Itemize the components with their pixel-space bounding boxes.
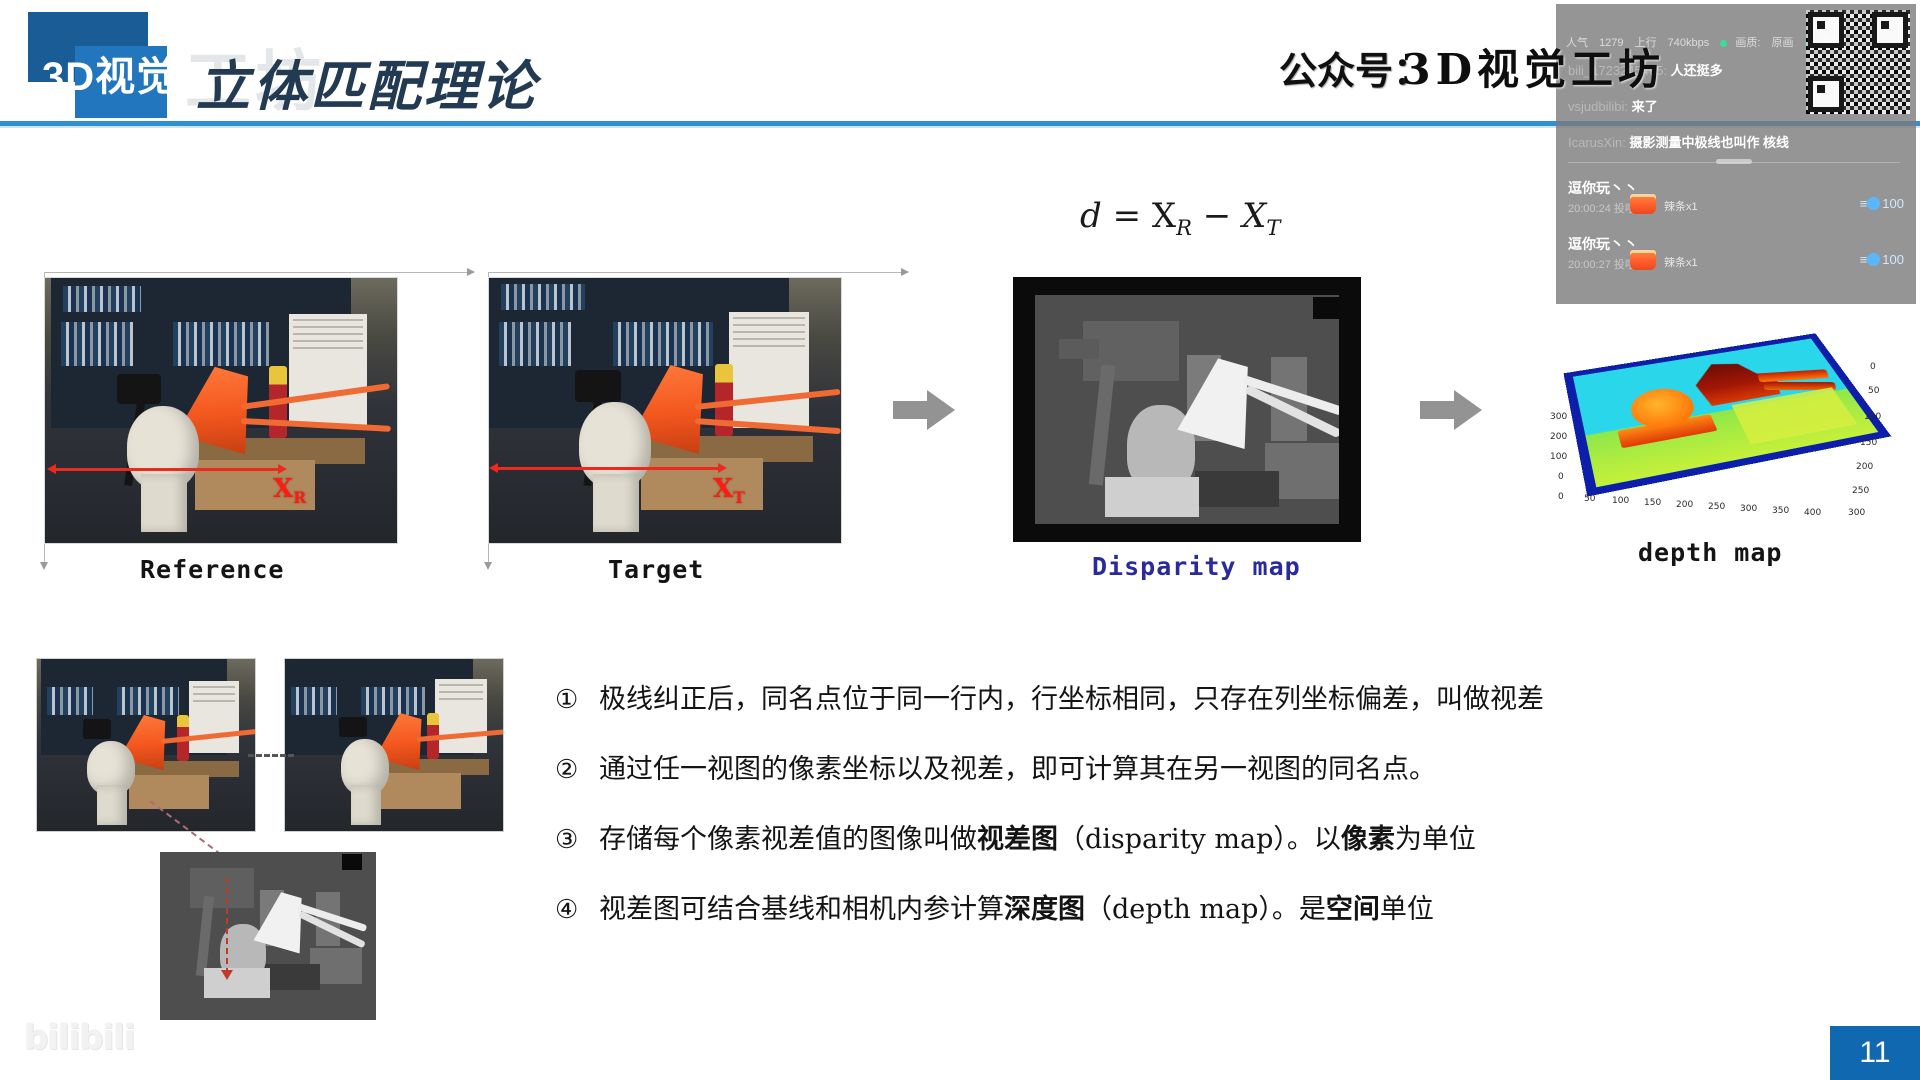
quality-value: 原画 [1771,37,1793,49]
gift-value: ≡100 [1860,196,1904,211]
x-tick-150: 150 [1644,498,1661,508]
bullet-item-4: ④视差图可结合基线和相机内参计算深度图（depth map）。是空间单位 [555,890,1905,930]
bullet-item-3: ③存储每个像素视差值的图像叫做视差图（disparity map）。以像素为单位 [555,820,1905,860]
depth-surface [1573,339,1878,488]
bullet-text: 极线纠正后，同名点位于同一行内，行坐标相同，只存在列坐标偏差，叫做视差 [599,684,1544,715]
bullet-text: 存储每个像素视差值的图像叫做视差图（disparity map）。以像素为单位 [599,824,1476,855]
x-tick-350: 350 [1772,506,1789,516]
chat-message: vsjudbilibi: 来了 [1568,96,1900,115]
formula-xr: X [1152,196,1176,236]
gift-username: 逗你玩丶丶 [1568,178,1638,198]
formula-minus: − [1203,196,1232,236]
y-tick-0: 0 [1558,472,1564,482]
disparity-map-canvas [1035,295,1339,524]
chat-message: IcarusXin: 摄影测量中极线也叫作 核线 [1568,132,1900,151]
x-tick-300: 300 [1740,504,1757,514]
chat-text: 人还挺多 [1671,63,1723,78]
disparity-caption: Disparity map [1092,552,1301,581]
y-tick-200: 200 [1550,432,1567,442]
bullet-term-disparity-map: 视差图 [977,824,1058,855]
chat-drag-handle[interactable] [1716,159,1752,164]
books-row-1 [61,322,133,366]
bullet-text-post: 单位 [1380,894,1434,925]
bullet-text-mid: （depth map）。是 [1085,894,1326,925]
bullet-term-space: 空间 [1326,894,1380,925]
gift-username: 逗你玩丶丶 [1568,234,1638,254]
point-label-xr: XR [273,474,306,507]
bullet-text-pre: 存储每个像素视差值的图像叫做 [599,824,977,855]
gift-time: 20:00:24 投喂 [1568,200,1636,216]
target-image: XT [488,277,842,544]
reference-image: XR [44,277,398,544]
x-tick-400: 400 [1804,508,1821,518]
z-tick-50: 50 [1868,386,1879,396]
y-tick-300: 300 [1550,412,1567,422]
gift-timestamp: 20:00:27 [1568,259,1611,271]
z-tick-250: 250 [1852,486,1869,496]
x-tick-100: 100 [1612,496,1629,506]
bullet-number: ④ [555,890,599,930]
chat-text: 摄影测量中极线也叫作 核线 [1629,135,1789,150]
bullet-text: 视差图可结合基线和相机内参计算深度图（depth map）。是空间单位 [599,894,1434,925]
y-tick-100: 100 [1550,452,1567,462]
point-label-xt-text: X [713,474,733,504]
books-row-2 [613,322,713,366]
z-tick-0: 0 [1870,362,1876,372]
gift-fries-icon [1630,194,1656,214]
bilibili-watermark: bilibili [24,1018,135,1058]
formula-d: d [1080,196,1102,236]
x-tick-250: 250 [1708,502,1725,512]
point-label-xt: XT [713,474,745,507]
point-label-xr-sub: R [293,488,306,507]
gift-value-number: 100 [1882,252,1904,267]
page-number-badge: 11 [1830,1026,1920,1080]
bullet-item-2: ②通过任一视图的像素坐标以及视差，即可计算其在另一视图的同名点。 [555,750,1905,790]
books-row-3 [63,286,141,312]
bullet-number: ③ [555,820,599,860]
gift-entry: 逗你玩丶丶 20:00:24 投喂 辣条x1 ≡100 [1568,178,1904,230]
guide-line-target-top [488,272,908,273]
thumbnail-right-view [284,658,504,832]
depth-map-plot: 300 200 100 0 0 50 100 150 200 250 300 3… [1520,300,1920,560]
bullet-term-pixel: 像素 [1341,824,1395,855]
bullet-text-post: 为单位 [1395,824,1476,855]
gift-timestamp: 20:00:24 [1568,203,1611,215]
target-caption: Target [608,555,704,584]
formula-xt-sub: T [1266,215,1280,240]
uplink-value: 740kbps [1668,37,1710,49]
bullet-text: 通过任一视图的像素坐标以及视差，即可计算其在另一视图的同名点。 [599,754,1436,785]
point-label-xr-text: X [273,474,293,504]
books-row-1 [499,322,571,366]
coin-icon [1867,253,1880,266]
bullet-list: ①极线纠正后，同名点位于同一行内，行坐标相同，只存在列坐标偏差，叫做视差 ②通过… [555,680,1905,960]
disparity-map-image [1013,277,1361,542]
x-tick-200: 200 [1676,500,1693,510]
formula-eq: = [1113,196,1142,236]
chat-username: vsjudbilibi [1568,99,1624,114]
poster [289,314,367,426]
epipolar-line [497,467,719,470]
gift-fries-icon [1630,250,1656,270]
bullet-number: ① [555,680,599,720]
x-tick-50: 50 [1584,494,1595,504]
x-tick-0: 0 [1558,492,1564,502]
gift-value: ≡100 [1860,252,1904,267]
coin-icon [1867,197,1880,210]
statue-neck [141,474,187,532]
epipolar-line [55,468,279,471]
z-tick-300: 300 [1848,508,1865,518]
qr-eye-tl-icon [1808,12,1844,48]
z-tick-100: 100 [1864,412,1881,422]
gift-entry: 逗你玩丶丶 20:00:27 投喂 辣条x1 ≡100 [1568,234,1904,286]
bullet-term-depth-map: 深度图 [1004,894,1085,925]
correspondence-connector-top [248,754,294,757]
point-label-xt-sub: T [733,488,745,507]
chat-text: 来了 [1632,99,1658,114]
gift-value-number: 100 [1882,196,1904,211]
z-tick-150: 150 [1860,438,1877,448]
books-row-3 [501,284,585,310]
guide-line-reference-top [44,272,474,273]
formula-xt: X [1242,196,1266,236]
poster [729,312,809,428]
flow-arrow-2-icon [1420,390,1482,430]
wechat-account-name: 3D视觉工坊 [1401,36,1665,97]
bullet-item-1: ①极线纠正后，同名点位于同一行内，行坐标相同，只存在列坐标偏差，叫做视差 [555,680,1905,720]
thumbnail-disparity [160,852,376,1020]
gift-time: 20:00:27 投喂 [1568,256,1636,272]
brand-logo-text: 3D视觉 [42,46,582,108]
books-row-2 [173,322,269,366]
thumbnail-left-view [36,658,256,832]
disparity-formula: d = XR − XT [1080,196,1280,240]
bullet-text-mid: （disparity map）。以 [1058,824,1341,855]
gift-item-name: 辣条x1 [1664,254,1698,270]
gift-item-name: 辣条x1 [1664,198,1698,214]
bullet-text-pre: 视差图可结合基线和相机内参计算 [599,894,1004,925]
z-tick-200: 200 [1856,462,1873,472]
quality-label: 画质: [1735,37,1760,49]
formula-xr-sub: R [1176,215,1192,240]
depth-caption: depth map [1638,538,1782,567]
status-dot-quality-icon [1720,40,1727,47]
qr-eye-tr-icon [1872,12,1908,48]
reference-caption: Reference [140,555,284,584]
bullet-number: ② [555,750,599,790]
statue-neck [593,474,639,532]
chat-username: IcarusXin [1568,135,1622,150]
flow-arrow-1-icon [893,390,955,430]
